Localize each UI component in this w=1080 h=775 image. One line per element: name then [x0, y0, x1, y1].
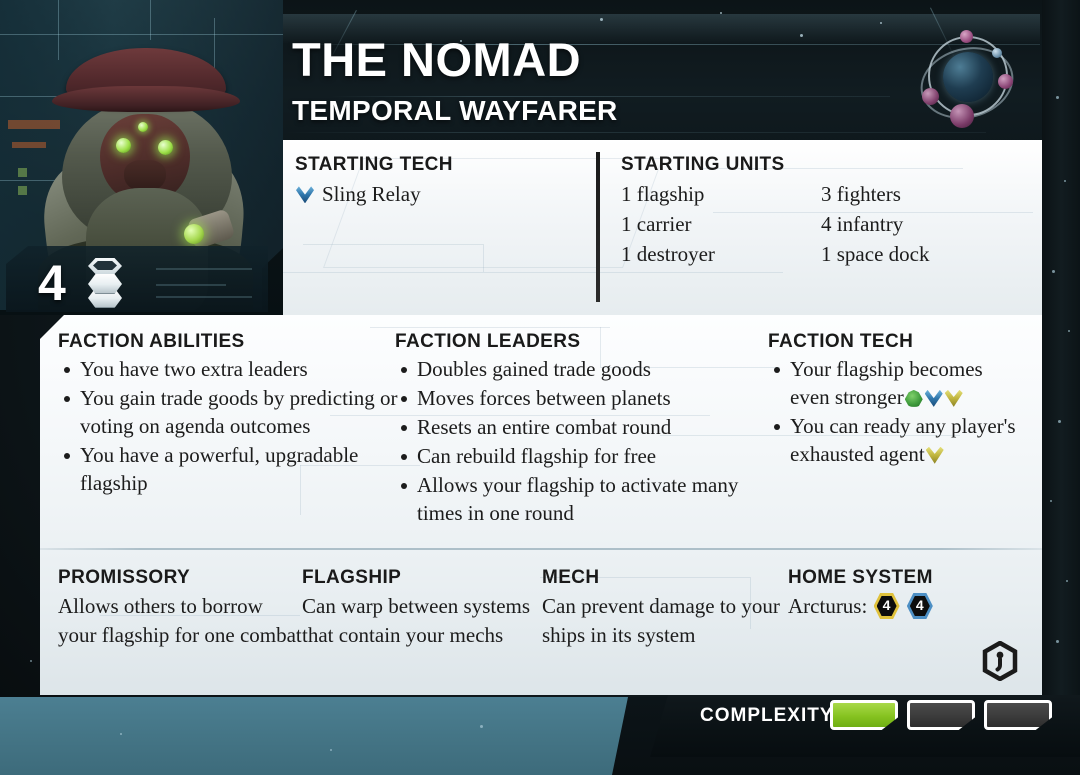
header-star: [600, 18, 603, 21]
glowing-eye: [138, 122, 148, 132]
complexity-pip-filled: [830, 700, 898, 730]
faction-tech-text: You can ready any player's exhausted age…: [790, 414, 1016, 466]
mech-heading: MECH: [542, 567, 787, 589]
mech-section: MECH Can prevent damage to your ships in…: [542, 567, 787, 651]
list-item: Moves forces between planets: [395, 385, 770, 413]
resource-value-icon: 4: [874, 593, 900, 619]
starting-unit-item: 1 space dock: [821, 240, 1021, 270]
starting-tech-block: STARTING TECH Sling Relay: [295, 154, 595, 210]
section-vertical-divider: [596, 152, 600, 302]
influence-value-icon: 4: [907, 593, 933, 619]
header-tech-line: [286, 132, 986, 133]
planet-name: Arcturus:: [788, 594, 867, 618]
starting-units-columns: 1 flagship 1 carrier 1 destroyer 3 fight…: [621, 180, 1021, 269]
flagship-text: Can warp between systems that contain yo…: [302, 592, 542, 651]
faction-tech-section: FACTION TECH Your flagship becomes even …: [768, 331, 1018, 470]
cybernetic-tech-icon: [926, 447, 944, 464]
list-item: You gain trade goods by predicting or vo…: [58, 385, 403, 441]
command-token-stack-icon: [88, 258, 124, 306]
home-system-heading: HOME SYSTEM: [788, 567, 1038, 589]
header-star: [720, 12, 722, 14]
header-star: [800, 34, 803, 37]
command-token-count: 4: [38, 254, 65, 312]
starting-tech-heading: STARTING TECH: [295, 154, 595, 176]
token-bar-line: [156, 284, 226, 286]
starting-units-block: STARTING UNITS 1 flagship 1 carrier 1 de…: [621, 154, 1021, 269]
starting-units-right-column: 3 fighters 4 infantry 1 space dock: [821, 180, 1021, 269]
list-item: You have a powerful, upgradable flagship: [58, 442, 403, 498]
list-item: You can ready any player's exhausted age…: [768, 413, 1018, 469]
starting-units-left-column: 1 flagship 1 carrier 1 destroyer: [621, 180, 821, 269]
circuit-deco: [303, 244, 483, 245]
flagship-heading: FLAGSHIP: [302, 567, 542, 589]
token-bar-line: [156, 296, 252, 298]
propulsion-tech-icon: [296, 186, 314, 203]
faction-card: 4 THE NOMAD TEMPORAL WAYFARER: [0, 0, 1042, 760]
list-item: Can rebuild flagship for free: [395, 443, 770, 471]
cybernetic-tech-icon: [945, 390, 963, 407]
starting-tech-list: Sling Relay: [295, 180, 595, 210]
complexity-pip-empty: [984, 700, 1052, 730]
promissory-section: PROMISSORY Allows others to borrow your …: [58, 567, 303, 651]
portrait-panel-light: [18, 168, 27, 177]
title-block: THE NOMAD TEMPORAL WAYFARER: [292, 36, 618, 127]
starting-unit-item: 1 destroyer: [621, 240, 821, 270]
complexity-pip-empty: [907, 700, 975, 730]
home-system-section: HOME SYSTEM Arcturus: 4 4: [788, 567, 1038, 621]
starting-info-panel: STARTING TECH Sling Relay STARTING UNITS…: [283, 140, 1042, 315]
faction-subtitle: TEMPORAL WAYFARER: [292, 95, 618, 127]
list-item: Doubles gained trade goods: [395, 356, 770, 384]
faction-tech-heading: FACTION TECH: [768, 331, 1018, 353]
glowing-eye: [158, 140, 173, 155]
hat-brim: [52, 86, 240, 112]
portrait-panel-light: [18, 186, 27, 195]
faction-tech-list: Your flagship becomes even stronger You …: [768, 356, 1018, 469]
starting-unit-item: 1 flagship: [621, 180, 821, 210]
list-item: Your flagship becomes even stronger: [768, 356, 1018, 412]
header-star: [880, 22, 882, 24]
portrait-tech-line: [0, 34, 283, 35]
starting-unit-item: 4 infantry: [821, 210, 1021, 240]
promissory-text: Allows others to borrow your flagship fo…: [58, 592, 303, 651]
faction-abilities-list: You have two extra leaders You gain trad…: [58, 356, 403, 498]
starting-tech-name: Sling Relay: [322, 180, 421, 210]
token-bar-line: [156, 268, 252, 270]
card-body-panel: FACTION ABILITIES You have two extra lea…: [40, 315, 1042, 695]
home-system-planet: Arcturus: 4 4: [788, 592, 1038, 621]
circuit-deco: [283, 272, 783, 273]
complexity-label: COMPLEXITY: [700, 705, 834, 727]
promissory-heading: PROMISSORY: [58, 567, 303, 589]
faction-abilities-heading: FACTION ABILITIES: [58, 331, 403, 353]
faction-leaders-list: Doubles gained trade goods Moves forces …: [395, 356, 770, 528]
starting-unit-item: 1 carrier: [621, 210, 821, 240]
flagship-section: FLAGSHIP Can warp between systems that c…: [302, 567, 542, 651]
circuit-deco: [483, 244, 484, 272]
biotic-tech-icon: [905, 390, 923, 407]
faction-title: THE NOMAD: [292, 36, 618, 83]
clasp-gem: [184, 224, 204, 244]
mech-text: Can prevent damage to your ships in its …: [542, 592, 787, 651]
list-item: Resets an entire combat round: [395, 414, 770, 442]
right-gutter-starfield: [1042, 0, 1080, 697]
list-item: You have two extra leaders: [58, 356, 403, 384]
starting-unit-item: 3 fighters: [821, 180, 1021, 210]
complexity-pips: [830, 700, 1052, 730]
help-hex-icon[interactable]: [982, 641, 1018, 681]
faction-leaders-section: FACTION LEADERS Doubles gained trade goo…: [395, 331, 770, 529]
list-item: Allows your flagship to activate many ti…: [395, 472, 770, 528]
section-divider: [40, 548, 1042, 550]
nomad-orbital-emblem-icon: [916, 26, 1020, 130]
propulsion-tech-icon: [925, 390, 943, 407]
starting-units-heading: STARTING UNITS: [621, 154, 1021, 176]
circuit-deco: [370, 327, 610, 328]
glowing-eye: [116, 138, 131, 153]
portrait-tech-line: [150, 0, 151, 40]
faction-abilities-section: FACTION ABILITIES You have two extra lea…: [58, 331, 403, 499]
starting-tech-item: Sling Relay: [295, 180, 595, 210]
faction-leaders-heading: FACTION LEADERS: [395, 331, 770, 353]
